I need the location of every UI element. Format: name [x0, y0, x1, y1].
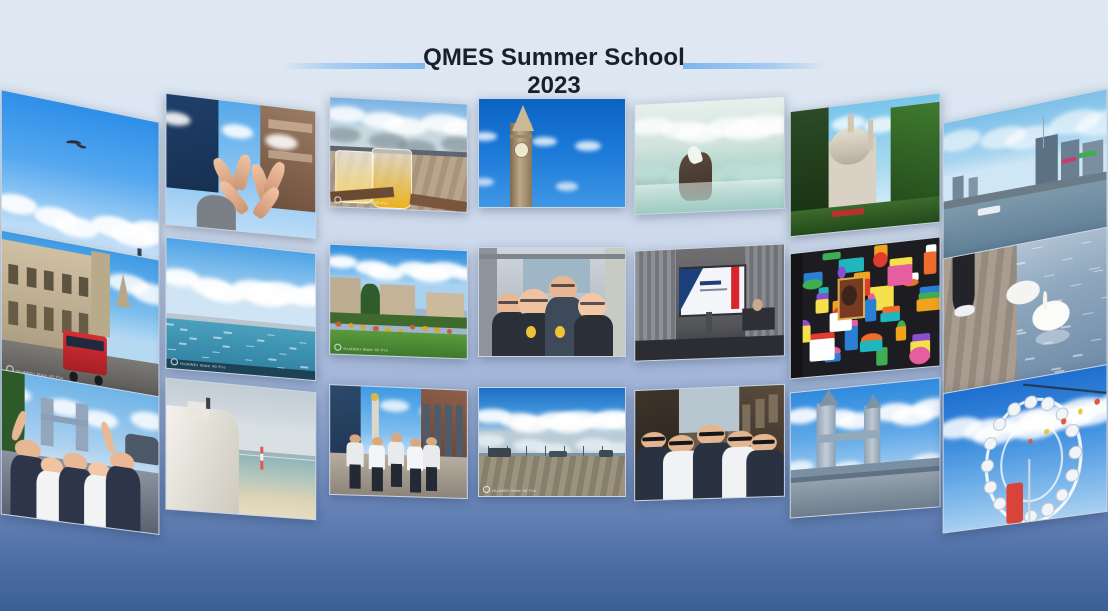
gallery-photo[interactable] — [790, 92, 941, 237]
gallery-photo[interactable] — [634, 243, 785, 361]
camera-brand-icon — [334, 196, 341, 203]
gallery-photo[interactable]: HUAWEI Mate 40 Pro — [329, 244, 468, 360]
photo-artwork — [330, 97, 467, 212]
slide-title: QMES Summer School 2023 — [0, 44, 1108, 101]
camera-brand-icon — [171, 358, 178, 366]
photo-artwork — [2, 370, 159, 534]
gallery-photo[interactable] — [478, 98, 626, 208]
photo-artwork — [635, 244, 784, 360]
photo-artwork — [791, 378, 940, 517]
gallery-photo[interactable] — [1, 369, 160, 535]
photo-artwork — [944, 365, 1107, 532]
gallery-photo[interactable] — [165, 93, 316, 239]
camera-brand-icon — [334, 344, 341, 351]
photo-artwork — [791, 94, 940, 237]
slide-title-line1: QMES Summer School — [0, 44, 1108, 72]
gallery-photo[interactable]: HUAWEI Mate 40 Pro — [478, 387, 626, 497]
presentation-slide: QMES Summer School 2023 HUAWEI Mate 40 P… — [0, 0, 1108, 611]
slide-title-line2: 2023 — [0, 72, 1108, 100]
photo-artwork — [479, 99, 625, 207]
gallery-photo[interactable] — [943, 364, 1108, 534]
gallery-photo[interactable] — [790, 377, 941, 518]
photo-artwork — [635, 385, 784, 500]
gallery-photo[interactable] — [634, 96, 785, 215]
photo-artwork — [479, 248, 625, 356]
photo-artwork — [479, 388, 625, 496]
gallery-photo[interactable] — [634, 384, 785, 501]
photo-artwork — [330, 385, 467, 498]
gallery-photo[interactable]: HUAWEI Mate 40 Pro — [165, 237, 316, 381]
photo-artwork — [635, 97, 784, 214]
photo-artwork — [166, 94, 315, 238]
photo-artwork — [330, 245, 467, 359]
gallery-photo[interactable] — [165, 377, 316, 520]
title-rule-left-icon — [283, 63, 425, 69]
photo-watermark: HUAWEI Mate 40 Pro — [483, 486, 536, 493]
gallery-photo[interactable] — [329, 384, 468, 499]
photo-artwork — [791, 238, 940, 379]
gallery-photo[interactable] — [790, 236, 941, 379]
gallery-photo[interactable]: HUAWEI Mate 40 Pro — [329, 96, 468, 213]
photo-artwork — [166, 379, 315, 520]
camera-brand-icon — [483, 486, 490, 493]
title-rule-right-icon — [683, 63, 825, 69]
gallery-photo[interactable] — [478, 247, 626, 357]
